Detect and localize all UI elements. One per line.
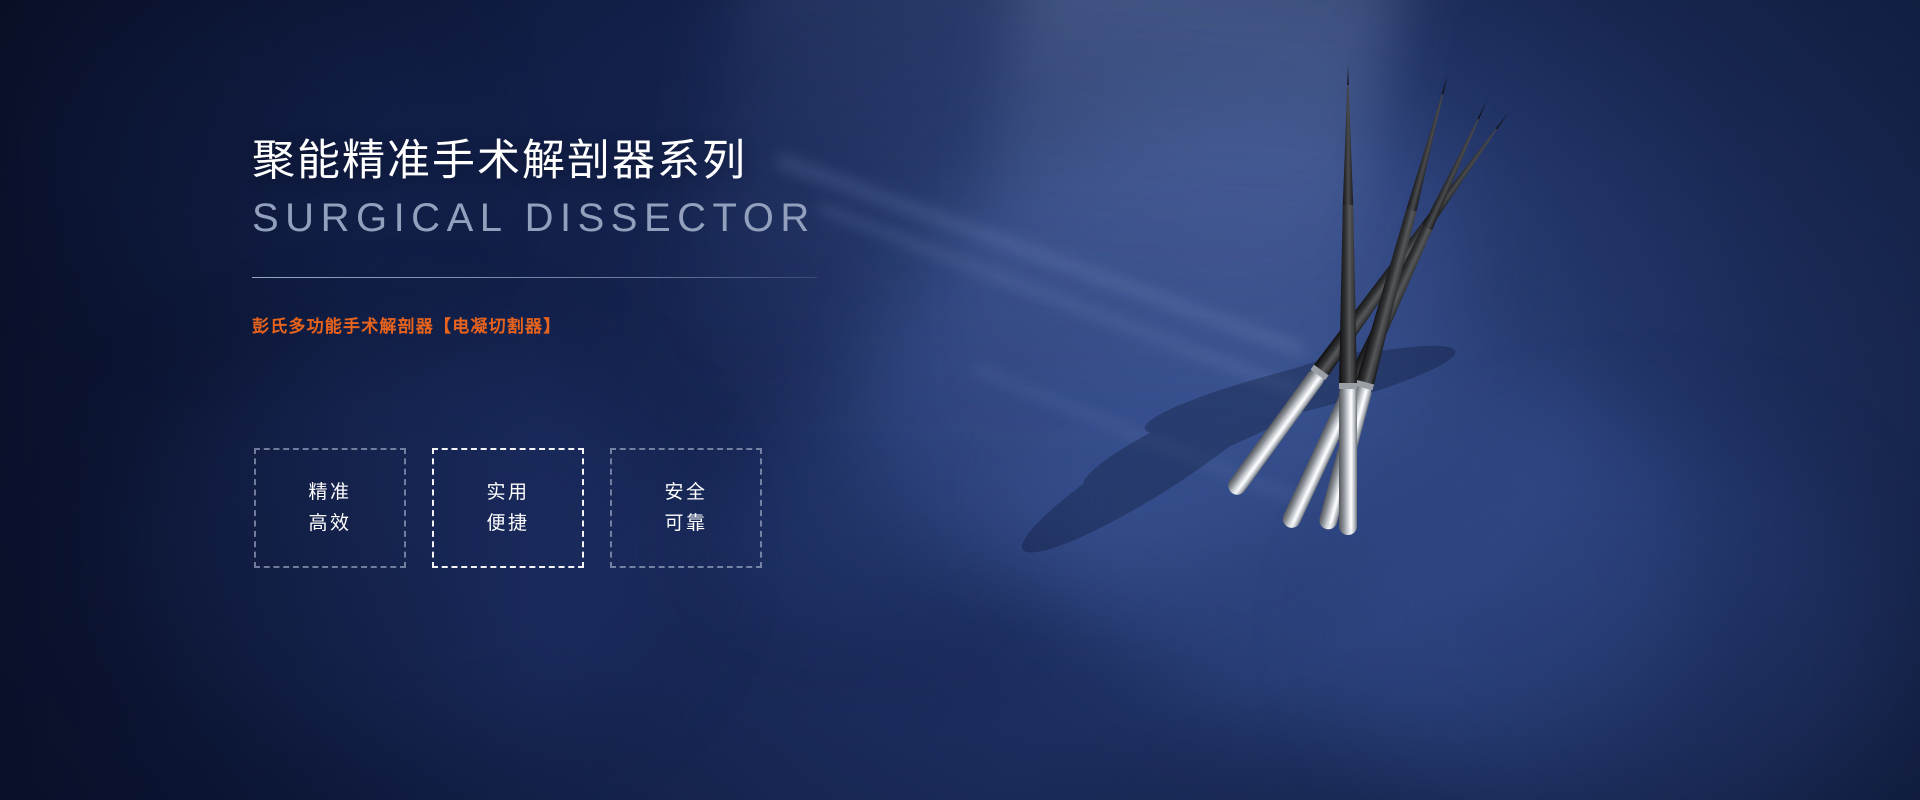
feature-box-2-line-2: 便捷 (486, 512, 529, 536)
feature-box-2[interactable]: 实用 便捷 (432, 448, 584, 568)
product-hero-banner: 聚能精准手术解剖器系列 SURGICAL DISSECTOR 彭氏多功能手术解剖… (0, 0, 1920, 800)
product-name-highlight: 彭氏多功能手术解剖器【电凝切割器】 (252, 316, 872, 338)
feature-box-group: 精准 高效 实用 便捷 安全 可靠 (254, 448, 762, 568)
feature-box-1[interactable]: 精准 高效 (254, 448, 406, 568)
feature-box-3[interactable]: 安全 可靠 (610, 448, 762, 568)
feature-box-1-line-2: 高效 (308, 512, 351, 536)
page-subtitle-english: SURGICAL DISSECTOR (252, 193, 872, 243)
banner-text-block: 聚能精准手术解剖器系列 SURGICAL DISSECTOR 彭氏多功能手术解剖… (252, 138, 872, 338)
background-gradient (0, 0, 1920, 800)
feature-box-3-line-1: 安全 (664, 481, 707, 505)
feature-box-3-line-2: 可靠 (664, 512, 707, 536)
feature-box-2-line-1: 实用 (486, 481, 529, 505)
page-title: 聚能精准手术解剖器系列 (252, 138, 872, 185)
feature-box-1-line-1: 精准 (308, 481, 351, 505)
divider (252, 277, 817, 278)
